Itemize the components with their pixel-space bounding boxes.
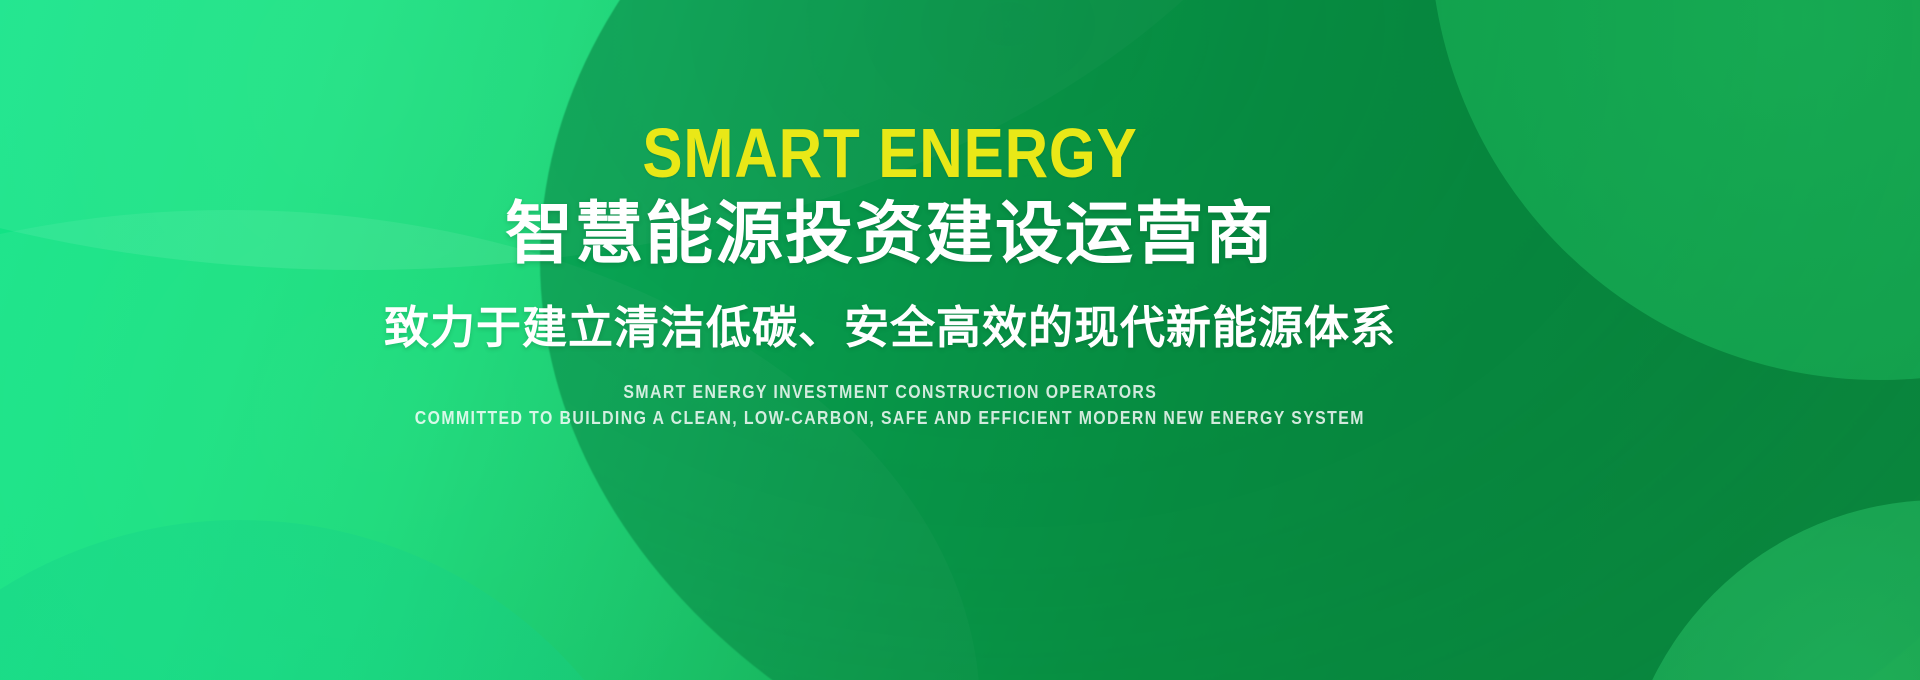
banner-caption-block: SMART ENERGY INVESTMENT CONSTRUCTION OPE… <box>350 379 1430 431</box>
banner-caption-line-1: SMART ENERGY INVESTMENT CONSTRUCTION OPE… <box>623 379 1157 405</box>
banner-caption-line-2: COMMITTED TO BUILDING A CLEAN, LOW-CARBO… <box>415 405 1365 431</box>
banner-title-chinese: 智慧能源投资建设运营商 <box>505 198 1275 271</box>
banner-content: SMART ENERGY 智慧能源投资建设运营商 致力于建立清洁低碳、安全高效的… <box>0 0 1920 680</box>
banner-subtitle-chinese: 致力于建立清洁低碳、安全高效的现代新能源体系 <box>384 303 1396 353</box>
hero-banner: SMART ENERGY 智慧能源投资建设运营商 致力于建立清洁低碳、安全高效的… <box>0 0 1920 680</box>
banner-title-english: SMART ENERGY <box>642 118 1137 188</box>
